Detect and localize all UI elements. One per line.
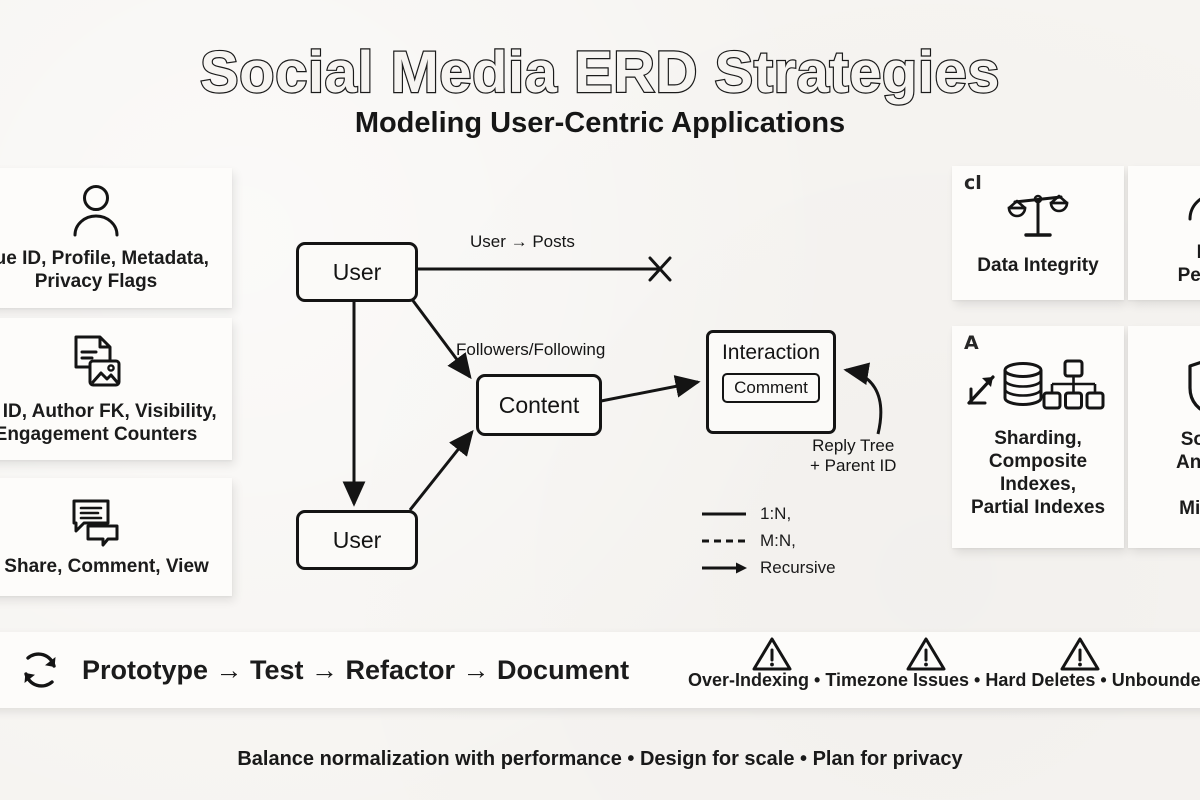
card-privacy-strategies-label: Soft De Anonym Dat Minimiz [1168, 428, 1200, 521]
legend-row-one-to-many: 1:N, [700, 504, 836, 524]
card-scaling-strategies-label: Sharding, Composite Indexes, Partial Ind… [952, 427, 1124, 520]
card-interaction-entity-label: e, Share, Comment, View [0, 555, 217, 578]
erd-diagram: User User Content Interaction Comment Us… [270, 222, 930, 602]
edge-label-user-posts: User → Posts [470, 232, 575, 252]
erd-box-comment[interactable]: Comment [722, 373, 820, 403]
card-data-integrity[interactable]: cl Data Integrity [952, 166, 1124, 300]
erd-legend: 1:N, M:N, Recursive [700, 504, 836, 578]
legend-row-many-to-many: M:N, [700, 531, 836, 551]
erd-box-interaction-title: Interaction [722, 341, 820, 365]
legend-label-recursive: Recursive [760, 558, 836, 578]
header: Social Media ERD Strategies Modeling Use… [0, 44, 1200, 140]
legend-label-one-to-many: 1:N, [760, 504, 791, 524]
warning-triangle-icon [1060, 636, 1100, 672]
card-data-integrity-label: Data Integrity [969, 254, 1106, 277]
footer-text: Balance normalization with performance •… [0, 748, 1200, 771]
pitfall-icon-row [688, 636, 1200, 672]
card-scaling-strategies[interactable]: A Sharding, Composite Indexes, Partial I… [952, 326, 1124, 548]
gauge-icon [1185, 179, 1200, 233]
card-user-entity[interactable]: que ID, Profile, Metadata, Privacy Flags [0, 168, 232, 308]
database-sharding-icon [963, 355, 1113, 419]
card-read-performance[interactable]: Rea Perform [1128, 166, 1200, 300]
person-icon [67, 183, 125, 239]
speech-bubbles-icon [68, 495, 124, 547]
card-user-entity-label: que ID, Profile, Metadata, Privacy Flags [0, 247, 217, 293]
erd-box-interaction[interactable]: Interaction Comment [706, 330, 836, 434]
bottom-bar: Prototype → Test → Refactor → Document [0, 632, 1200, 708]
erd-box-content[interactable]: Content [476, 374, 602, 436]
page-title: Social Media ERD Strategies [0, 44, 1200, 102]
legend-row-recursive: Recursive [700, 558, 836, 578]
scales-icon [1007, 188, 1069, 246]
refresh-cycle-icon [16, 646, 64, 694]
edge-label-reply-tree: Reply Tree + Parent ID [810, 436, 896, 476]
warning-triangle-icon [752, 636, 792, 672]
legend-label-many-to-many: M:N, [760, 531, 796, 551]
arrow-line-icon [700, 561, 748, 575]
warning-triangle-icon [906, 636, 946, 672]
page-subtitle: Modeling User-Centric Applications [0, 108, 1200, 140]
card-content-entity[interactable]: ed ID, Author FK, Visibility, Engagement… [0, 318, 232, 460]
document-image-icon [66, 332, 126, 392]
solid-line-icon [700, 507, 748, 521]
pitfalls-text: Over-Indexing • Timezone Issues • Hard D… [688, 670, 1200, 691]
card-interaction-entity[interactable]: e, Share, Comment, View [0, 478, 232, 596]
card-content-entity-label: ed ID, Author FK, Visibility, Engagement… [0, 400, 225, 446]
card-read-performance-label: Rea Perform [1170, 241, 1200, 287]
card-privacy-strategies[interactable]: Soft De Anonym Dat Minimiz [1128, 326, 1200, 548]
shield-icon [1184, 354, 1200, 420]
corner-mark-glyph: cl [964, 174, 982, 193]
edge-label-followers: Followers/Following [456, 340, 605, 360]
erd-box-user-bottom[interactable]: User [296, 510, 418, 570]
erd-box-user-top[interactable]: User [296, 242, 418, 302]
pitfalls-group: Over-Indexing • Timezone Issues • Hard D… [688, 636, 1200, 691]
dashed-line-icon [700, 534, 748, 548]
corner-mark-glyph: A [964, 334, 979, 353]
workflow-group: Prototype → Test → Refactor → Document [16, 646, 629, 694]
workflow-text: Prototype → Test → Refactor → Document [82, 655, 629, 686]
